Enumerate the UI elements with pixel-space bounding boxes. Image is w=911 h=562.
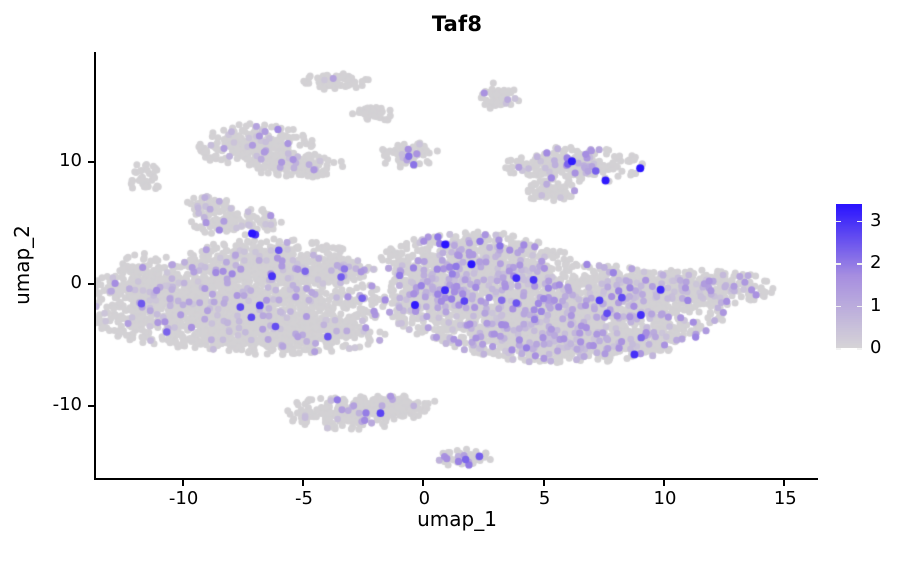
- x-tick-mark: [543, 480, 545, 486]
- y-tick-mark: [88, 161, 94, 163]
- colorbar-tick-label: 1: [870, 297, 881, 315]
- colorbar-legend: 0123: [836, 204, 862, 348]
- colorbar-tick-label: 0: [870, 339, 881, 357]
- colorbar-tick-label: 2: [870, 254, 881, 272]
- colorbar-tick-mark: [836, 221, 841, 223]
- x-tick-label: 0: [389, 489, 459, 509]
- x-tick-mark: [663, 480, 665, 486]
- x-tick-label: -10: [149, 489, 219, 509]
- colorbar-tick-mark: [857, 348, 862, 350]
- scatter-plot-canvas: [96, 52, 818, 478]
- x-tick-mark: [783, 480, 785, 486]
- x-axis-label: umap_1: [96, 509, 818, 529]
- x-tick-label: 10: [630, 489, 700, 509]
- y-tick-mark: [88, 283, 94, 285]
- colorbar-tick-mark: [836, 306, 841, 308]
- x-tick-label: 5: [510, 489, 580, 509]
- colorbar-gradient: [836, 204, 862, 348]
- x-axis-spine: [94, 478, 818, 480]
- figure-canvas: Taf8 -10-5051015 100-10 umap_1 umap_2 01…: [0, 0, 911, 562]
- y-axis-label-text: umap_2: [12, 225, 32, 305]
- x-tick-mark: [302, 480, 304, 486]
- y-tick-label: 10: [8, 152, 82, 170]
- y-tick-mark: [88, 405, 94, 407]
- colorbar-tick-mark: [836, 263, 841, 265]
- x-tick-mark: [422, 480, 424, 486]
- colorbar-tick-mark: [836, 348, 841, 350]
- x-tick-label: 15: [750, 489, 820, 509]
- x-tick-label: -5: [269, 489, 339, 509]
- y-axis-spine: [94, 52, 96, 479]
- colorbar-tick-mark: [857, 306, 862, 308]
- page-title: Taf8: [96, 14, 818, 35]
- y-tick-label: -10: [8, 396, 82, 414]
- plot-axes: -10-5051015 100-10: [96, 52, 818, 478]
- x-tick-mark: [182, 480, 184, 486]
- colorbar-tick-label: 3: [870, 212, 881, 230]
- colorbar-tick-mark: [857, 263, 862, 265]
- colorbar-tick-mark: [857, 221, 862, 223]
